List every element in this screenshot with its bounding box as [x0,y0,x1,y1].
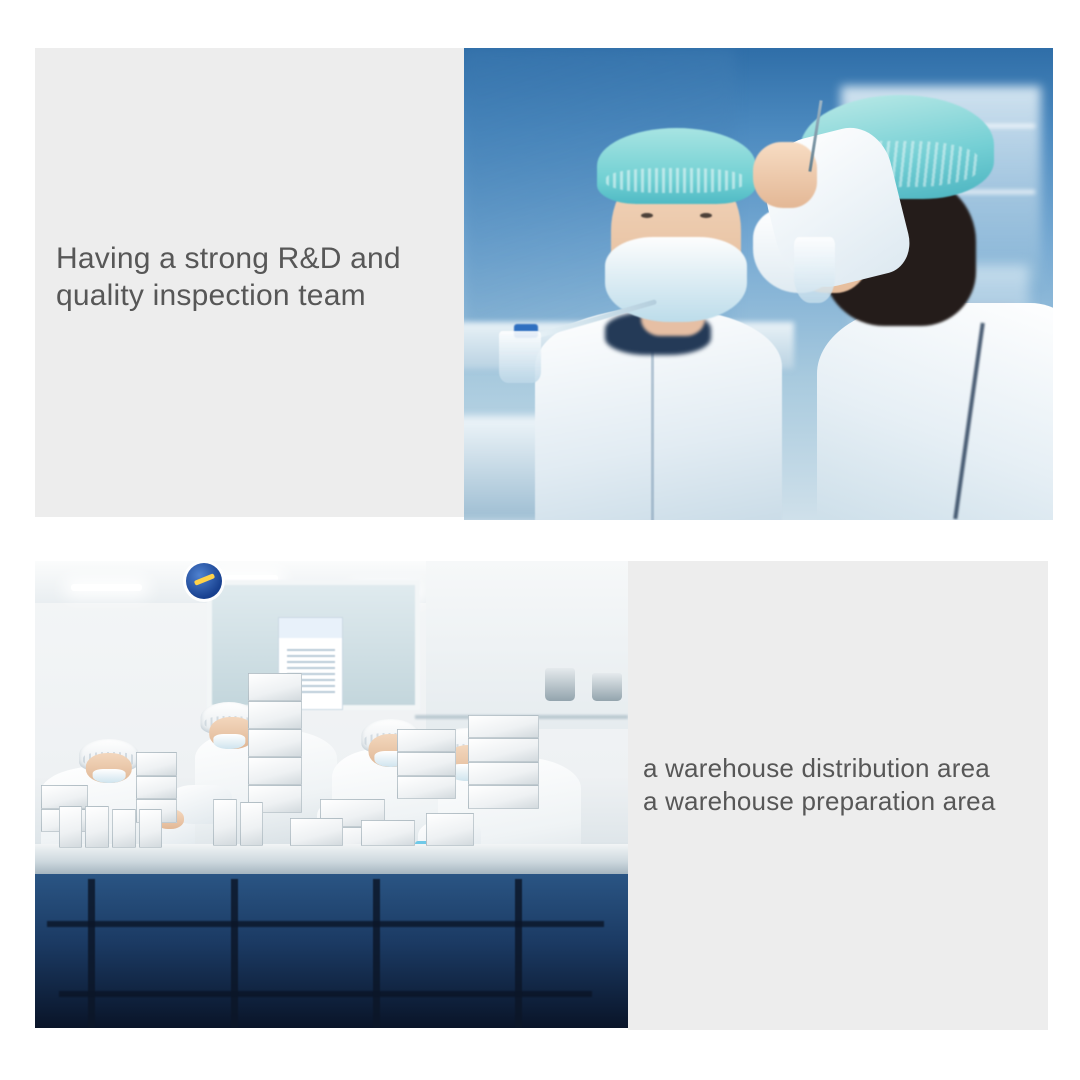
table-leg [231,879,238,1028]
warehouse-right-wall [426,561,628,729]
carton-box [248,701,301,729]
caption-rnd: Having a strong R&D and quality inspecti… [56,240,456,314]
carton-box-upright [112,809,136,849]
glass-beaker [499,331,540,383]
table-leg [88,879,95,1028]
technician-b-hand [753,142,818,208]
carton-box [397,729,456,752]
table-leg [515,879,522,1028]
carton-box [397,752,456,775]
carton-box [41,785,88,808]
carton-box-upright [59,806,83,848]
carton-box [290,818,343,846]
carton-box [361,820,414,846]
steel-container [545,668,575,701]
carton-box [468,762,539,785]
steel-worktable [35,844,628,877]
ceiling-lamp [71,584,142,591]
technician-a-eye [700,213,712,218]
carton-box [468,738,539,761]
table-understructure [35,874,628,1028]
carton-box-upright [139,809,163,849]
worker-face-mask [214,734,245,749]
carton-box [248,757,301,785]
carton-box [248,729,301,757]
carton-box-upright [85,806,109,848]
table-rail [59,991,593,997]
photo-warehouse-packing [35,561,628,1028]
poster-canvas: Having a strong R&D and quality inspecti… [0,0,1080,1080]
carton-box [136,752,178,775]
carton-box [426,813,473,846]
technician-a-hair-cap [597,128,756,204]
photo-laboratory-inspection [464,48,1053,520]
caption-warehouse: a warehouse distribution area a warehous… [643,752,1043,818]
technician-b-labcoat [817,303,1053,520]
worker-face-mask [93,769,126,783]
carton-box-upright [213,799,237,846]
table-leg [373,879,380,1028]
carton-box-upright [240,802,264,846]
carton-box [397,776,456,799]
steel-container [592,673,622,701]
carton-box [468,785,539,808]
carton-box [468,715,539,738]
carton-box [136,776,178,799]
carton-box [248,673,301,701]
glass-vial [794,237,835,303]
